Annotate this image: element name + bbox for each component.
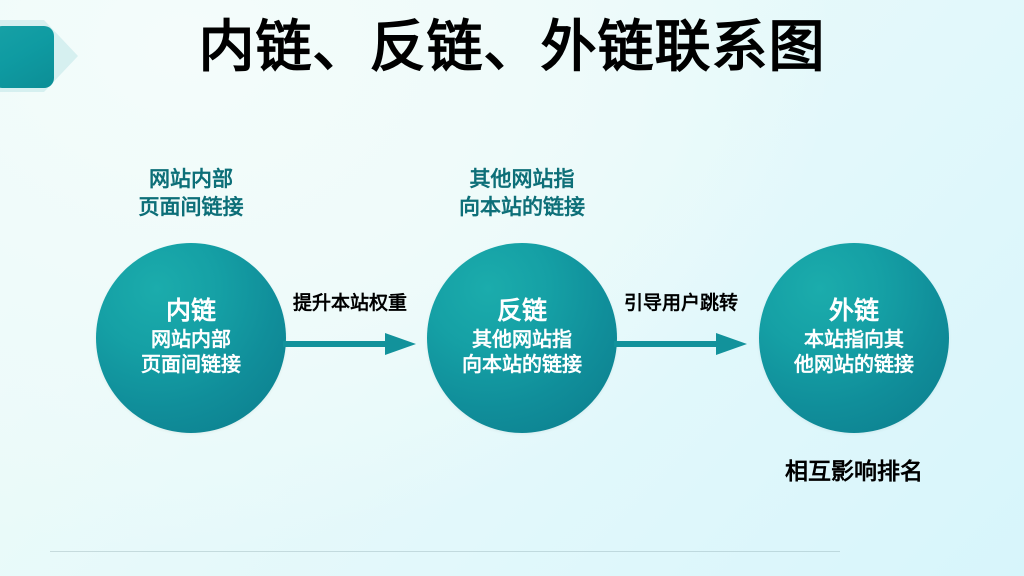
caption-backlinks: 其他网站指 向本站的链接: [407, 166, 637, 221]
node-backlinks: 反链 其他网站指 向本站的链接: [427, 243, 617, 433]
node-internal-links: 内链 网站内部 页面间链接: [96, 243, 286, 433]
arrow-label-guide-users: 引导用户跳转: [601, 288, 761, 315]
node-title: 外链: [829, 297, 879, 326]
caption-line-2: 页面间链接: [76, 194, 306, 222]
caption-line-2: 向本站的链接: [407, 194, 637, 222]
arrow-shaft: [283, 341, 391, 347]
node-desc-line-1: 其他网站指: [472, 328, 572, 354]
footnote-mutual-ranking: 相互影响排名: [744, 452, 964, 486]
node-title: 反链: [497, 297, 547, 326]
arrow-shaft: [614, 341, 722, 347]
caption-internal-links: 网站内部 页面间链接: [76, 166, 306, 221]
node-desc-line-1: 网站内部: [151, 328, 231, 354]
node-desc-line-2: 他网站的链接: [794, 353, 914, 379]
arrow-right-icon: [283, 333, 417, 355]
arrow-head: [716, 333, 747, 355]
caption-line-1: 网站内部: [76, 166, 306, 194]
node-title: 内链: [166, 297, 216, 326]
bottom-divider: [50, 551, 840, 552]
node-desc-line-2: 页面间链接: [141, 353, 241, 379]
arrow-label-boost-weight: 提升本站权重: [270, 288, 430, 315]
node-desc-line-1: 本站指向其: [804, 328, 904, 354]
caption-line-1: 其他网站指: [407, 166, 637, 194]
node-external-links: 外链 本站指向其 他网站的链接: [759, 243, 949, 433]
node-desc-line-2: 向本站的链接: [462, 353, 582, 379]
slide-canvas: 内链、反链、外链联系图 网站内部 页面间链接 其他网站指 向本站的链接 内链 网…: [0, 0, 1024, 576]
arrow-right-icon: [614, 333, 748, 355]
page-title: 内链、反链、外链联系图: [0, 16, 1024, 78]
arrow-head: [385, 333, 416, 355]
